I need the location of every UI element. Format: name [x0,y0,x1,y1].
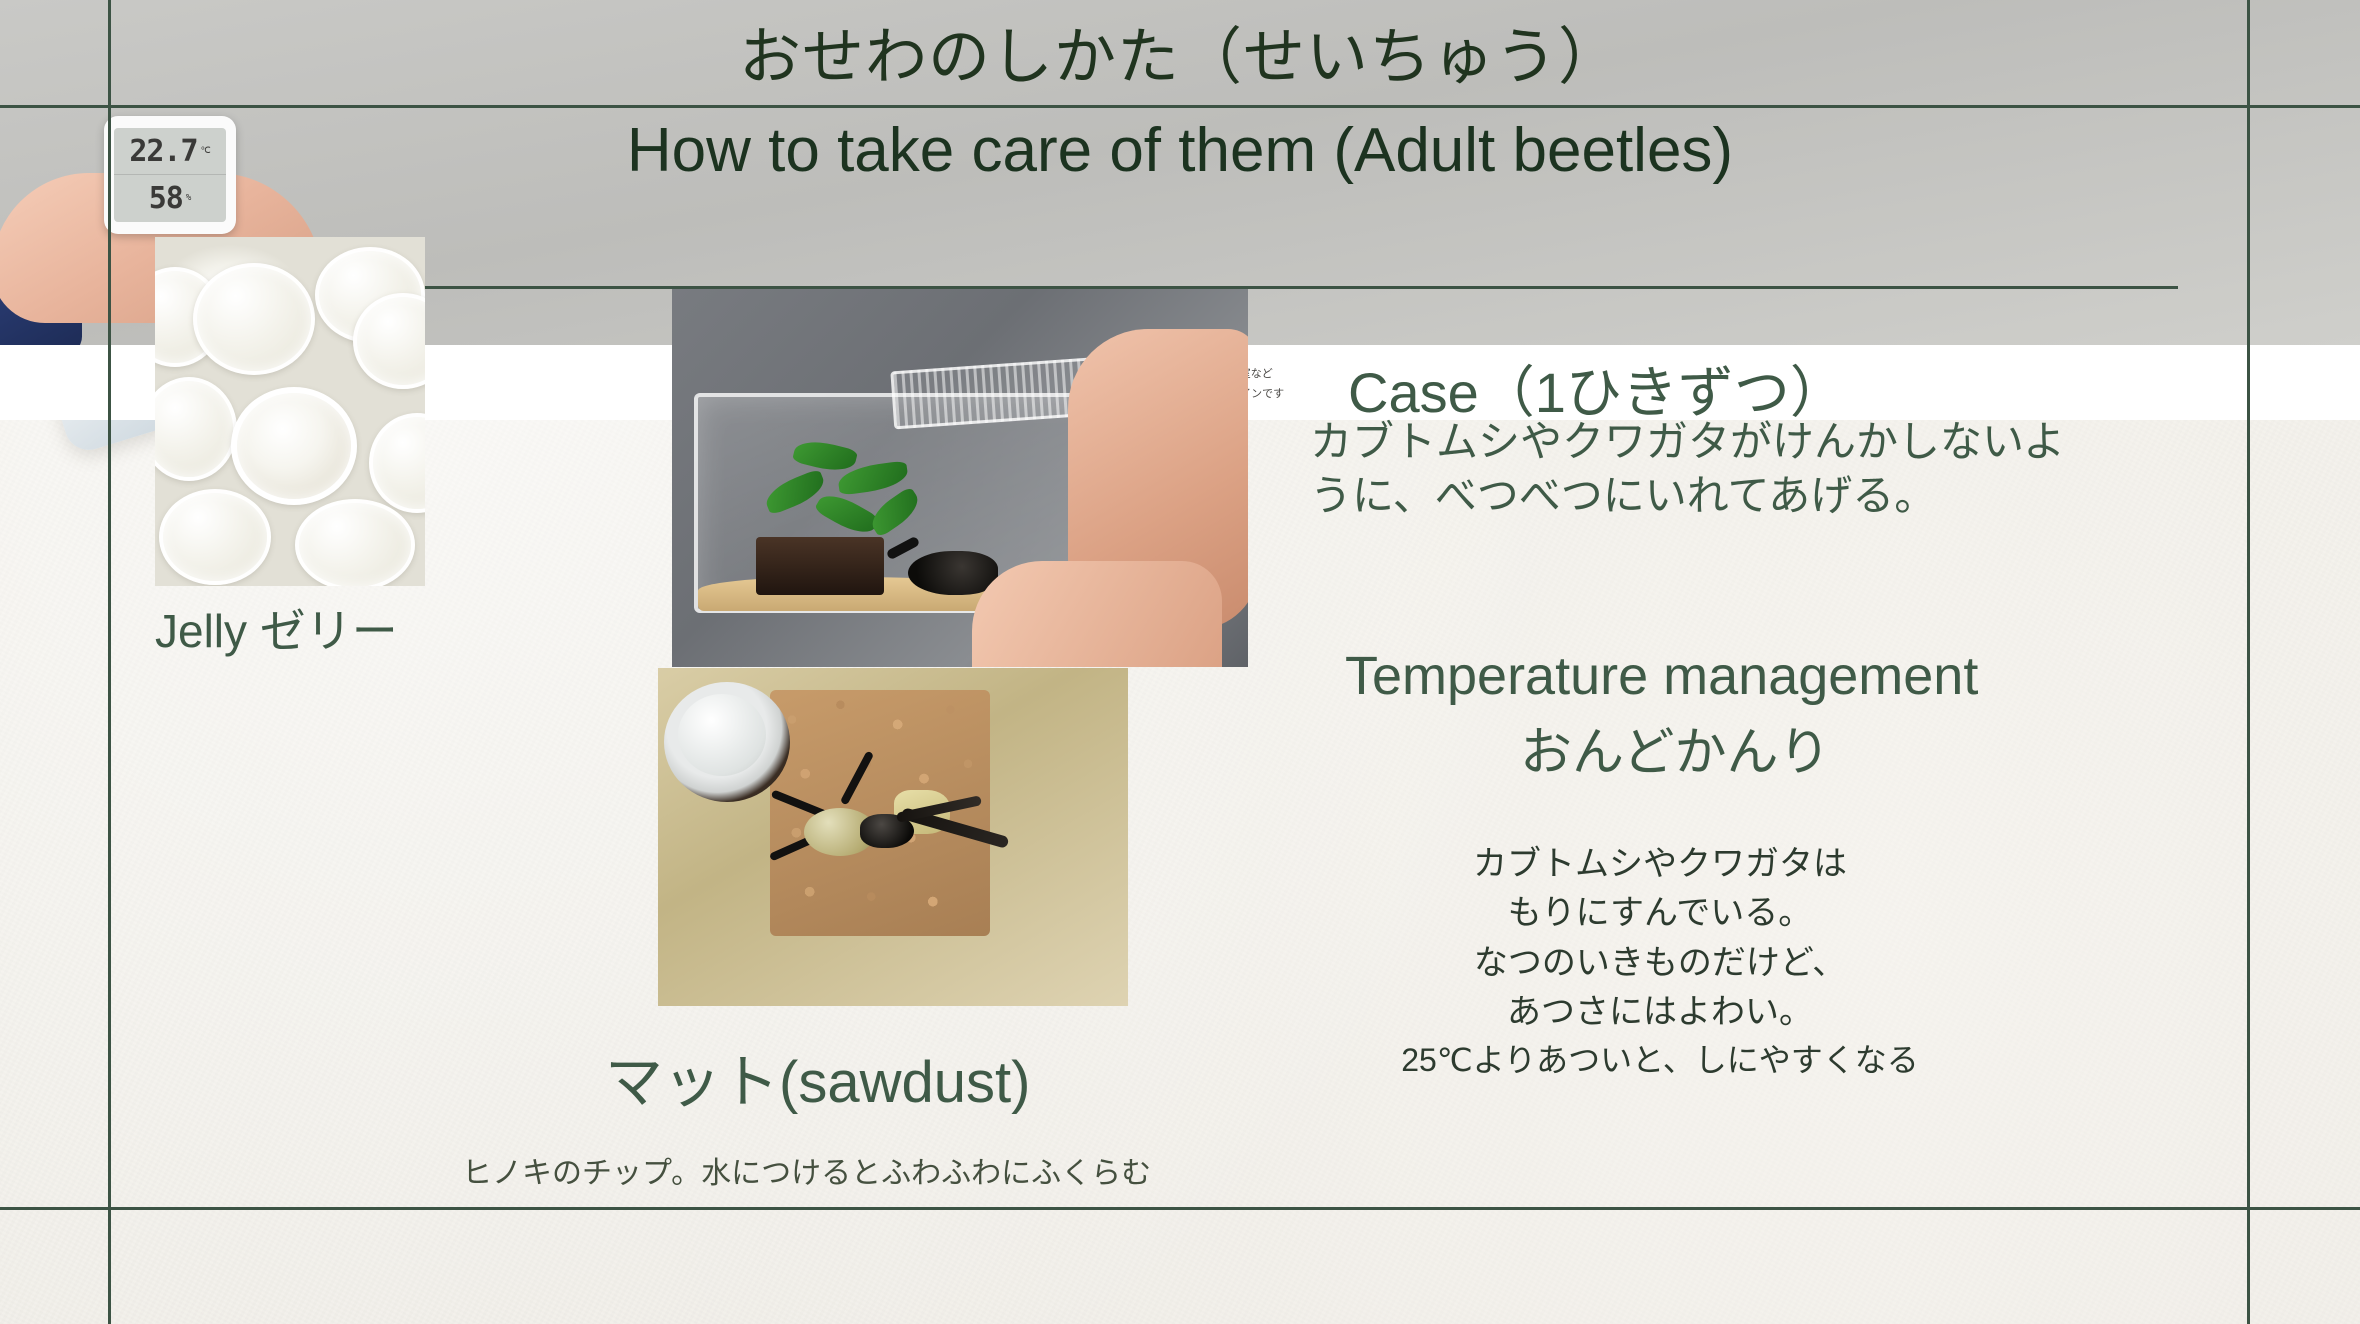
temperature-body-line: 25℃よりあついと、しにやすくなる [1380,1037,1940,1083]
temperature-body-line: あつさにはよわい。 [1380,988,1940,1037]
humidity-unit-label: % [186,194,191,203]
slide-canvas: おせわのしかた（せいちゅう） How to take care of them … [0,0,2360,1324]
temperature-heading-japanese: おんどかんり [1520,710,1830,785]
beetle-jelly-cups-photo [155,237,425,586]
mat-caption: ヒノキのチップ。水につけるとふわふわにふくらむ [462,1148,1151,1192]
humidity-reading: 58 [149,181,183,216]
page-title-japanese: おせわのしかた（せいちゅう） [0,6,2360,96]
temperature-body-text: カブトムシやクワガタはもりにすんでいる。なつのいきものだけど、あつさにはよわい。… [1380,840,1940,1084]
beetle-in-plastic-case-photo [672,289,1248,667]
guide-line-bottom [0,1207,2360,1210]
temperature-heading-english: Temperature management [1345,645,1978,707]
mat-label: マット(sawdust) [605,1035,1030,1119]
guide-line-top [0,105,2360,108]
guide-line-left [108,0,111,1324]
jelly-label: Jelly ゼリー [155,595,398,661]
temperature-body-line: なつのいきものだけど、 [1380,939,1940,988]
beetle-on-mat-photo [658,668,1128,1006]
guide-line-right [2247,0,2250,1324]
temperature-body-line: カブトムシやクワガタは [1380,840,1940,889]
case-body-text: カブトムシやクワガタがけんかしないように、べつべつにいれてあげる。 [1310,415,2100,523]
page-subtitle-english: How to take care of them (Adult beetles) [0,115,2360,186]
temperature-body-line: もりにすんでいる。 [1380,889,1940,938]
